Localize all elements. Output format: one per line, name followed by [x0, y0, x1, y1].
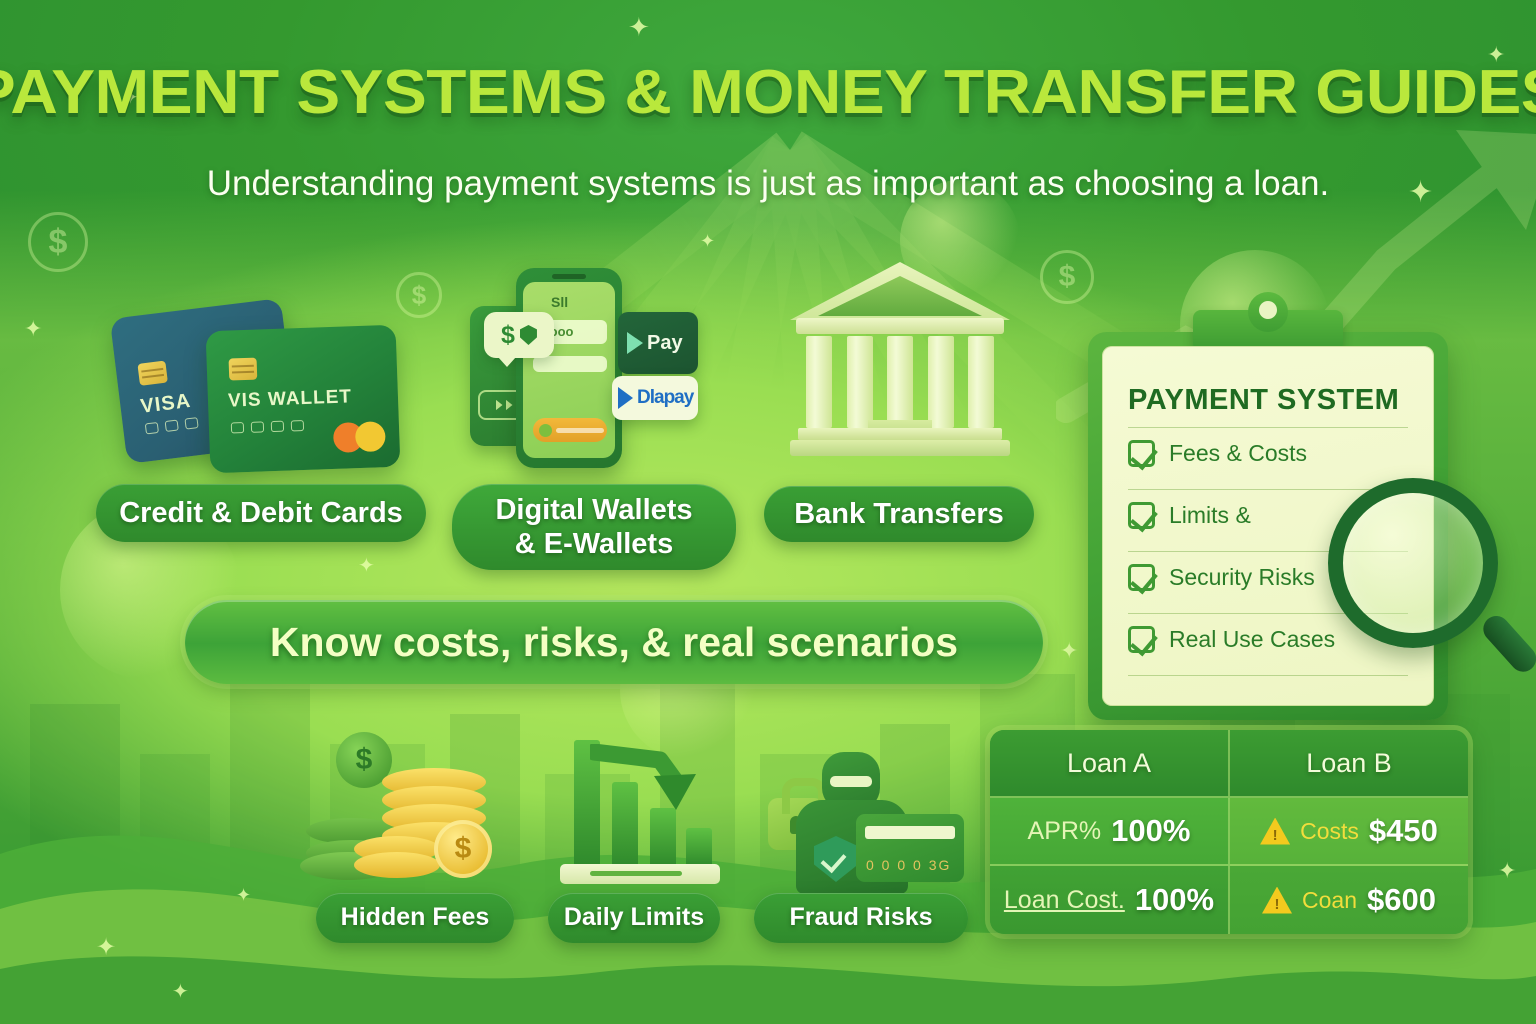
- checklist-item[interactable]: Real Use Cases: [1128, 614, 1408, 665]
- card-digits: 0 0 0 0 3G: [866, 857, 951, 873]
- gpay-badge: Pay: [618, 312, 698, 374]
- checklist-item-label: Fees & Costs: [1169, 440, 1307, 467]
- metric-value: 100%: [1135, 882, 1214, 918]
- dollar-watermark: $: [28, 212, 88, 272]
- phone-graphic: Sll Sooo: [516, 268, 622, 468]
- checklist-item[interactable]: Limits &: [1128, 490, 1408, 541]
- declining-bar-chart-icon: [556, 724, 724, 890]
- category-pill-wallets[interactable]: Digital Wallets & E-Wallets: [452, 484, 736, 570]
- chart-bar: [686, 828, 712, 866]
- metric-label: Coan: [1302, 887, 1357, 914]
- sparkle-icon: ✦: [628, 14, 650, 40]
- screen-title: Sll: [551, 294, 568, 310]
- bank-base-upper: [798, 428, 1002, 440]
- sparkle-icon: ✦: [1498, 860, 1516, 882]
- checklist-item[interactable]: Security Risks: [1128, 552, 1408, 603]
- paper-rule: [1128, 675, 1408, 676]
- card-brand-label: VISA: [139, 390, 192, 419]
- sparkle-icon: ✦: [358, 556, 375, 576]
- bank-columns: [806, 336, 994, 428]
- category-label: Bank Transfers: [794, 497, 1004, 531]
- sparkle-icon: ✦: [236, 886, 251, 904]
- checklist-item-label: Real Use Cases: [1169, 626, 1335, 653]
- page-title: PAYMENT SYSTEMS & MONEY TRANSFER GUIDES: [0, 57, 1536, 128]
- metric-value: 100%: [1111, 813, 1190, 849]
- clipboard-paper: PAYMENT SYSTEM Fees & Costs Limits & Sec…: [1102, 346, 1434, 706]
- checkbox-checked-icon[interactable]: [1128, 440, 1155, 467]
- category-label-line1: Digital Wallets: [495, 494, 692, 526]
- chart-bar: [650, 808, 676, 866]
- sparkle-icon: ✦: [24, 318, 42, 340]
- card-brand-label: VIS WALLET: [228, 386, 353, 412]
- dollar-watermark: $: [1040, 250, 1094, 304]
- clipboard-clip-ring: [1248, 292, 1288, 332]
- table-header-cell-loan-a: Loan A: [990, 730, 1230, 798]
- phone-screen: Sll Sooo: [523, 282, 615, 458]
- coin-disc: [354, 852, 440, 878]
- warning-icon: [1262, 887, 1292, 914]
- checklist-item-label: Limits &: [1169, 502, 1251, 529]
- risk-tag-hidden-fees[interactable]: Hidden Fees: [316, 893, 514, 943]
- card-magnetic-stripe: [865, 826, 955, 839]
- column-header: Loan B: [1306, 748, 1392, 779]
- column-header: Loan A: [1067, 748, 1151, 779]
- checklist-item[interactable]: Fees & Costs: [1128, 428, 1408, 479]
- category-label: Credit & Debit Cards: [119, 496, 403, 530]
- payment-system-checklist-card: PAYMENT SYSTEM Fees & Costs Limits & Sec…: [1088, 332, 1448, 720]
- bank-base-lower: [790, 440, 1010, 456]
- mastercard-logo-icon: [333, 421, 386, 453]
- screen-action-button: [533, 418, 607, 442]
- sparkle-icon: ✦: [96, 936, 116, 960]
- shield-icon: [520, 325, 537, 345]
- card-feature-dots: [145, 417, 199, 434]
- table-header-row: Loan A Loan B: [990, 730, 1468, 798]
- sparkle-icon: ✦: [700, 232, 715, 250]
- thief-mask: [830, 776, 872, 787]
- metric-label: APR%: [1028, 817, 1102, 846]
- screen-row: [533, 356, 607, 372]
- table-cell-loan-cost: Loan Cost. 100%: [990, 866, 1230, 934]
- table-cell-coan: Coan $600: [1230, 866, 1468, 934]
- risk-tag-label: Hidden Fees: [341, 903, 490, 933]
- checkbox-checked-icon[interactable]: [1128, 564, 1155, 591]
- table-row: APR% 100% Costs $450: [990, 798, 1468, 866]
- table-header-cell-loan-b: Loan B: [1230, 730, 1468, 798]
- card-feature-dots: [231, 420, 304, 434]
- metric-label: Costs: [1300, 818, 1359, 845]
- banner-text: Know costs, risks, & real scenarios: [270, 619, 958, 666]
- table-cell-costs: Costs $450: [1230, 798, 1468, 866]
- category-label-line2: & E-Wallets: [515, 528, 673, 560]
- card-chip-icon: [137, 361, 167, 386]
- checklist-item-label: Security Risks: [1169, 564, 1315, 591]
- category-pill-cards[interactable]: Credit & Debit Cards: [96, 484, 426, 542]
- risk-tag-daily-limits[interactable]: Daily Limits: [548, 893, 720, 943]
- phone-speaker: [552, 274, 586, 279]
- bank-building-icon: [790, 262, 1010, 462]
- wallet-card-graphic: VIS WALLET: [206, 325, 401, 474]
- risk-tag-label: Daily Limits: [564, 903, 704, 933]
- chart-base: [560, 864, 720, 884]
- play-triangle-icon: [627, 332, 643, 354]
- metric-value: $600: [1367, 882, 1436, 918]
- risk-tag-label: Fraud Risks: [789, 903, 932, 933]
- play-triangle-icon: [618, 387, 633, 409]
- category-pill-bank[interactable]: Bank Transfers: [764, 486, 1034, 542]
- coins-icon: $ $: [300, 732, 520, 890]
- key-message-banner[interactable]: Know costs, risks, & real scenarios: [185, 600, 1043, 684]
- page-subtitle: Understanding payment systems is just as…: [0, 164, 1536, 204]
- dollar-icon: $: [501, 321, 515, 350]
- credit-cards-icon: VISA ✦ VIS WALLET: [110, 298, 430, 478]
- smartphone-wallet-icon: Sll Sooo $ Pay Dlapay: [470, 268, 720, 478]
- metric-value: $450: [1369, 813, 1438, 849]
- bank-architrave: [796, 318, 1004, 334]
- money-chat-bubble-icon: $: [484, 312, 554, 358]
- checkbox-checked-icon[interactable]: [1128, 502, 1155, 529]
- dlapay-badge: Dlapay: [612, 376, 698, 420]
- downward-arrow-icon: [590, 744, 708, 816]
- sparkle-icon: ✦: [1060, 640, 1078, 662]
- infographic-canvas: $ $ $ $ ✦ ✦ ✦ ✦ ✦ ✦ ✦ ✦ ✦ ✦ ✦ ✦ PAYMENT …: [0, 0, 1536, 1024]
- metric-label: Loan Cost.: [1004, 886, 1125, 915]
- warning-icon: [1260, 818, 1290, 845]
- card-chip-icon: [229, 358, 258, 381]
- table-row: Loan Cost. 100% Coan $600: [990, 866, 1468, 934]
- dlapay-label: Dlapay: [637, 387, 693, 409]
- table-cell-apr: APR% 100%: [990, 798, 1230, 866]
- sparkle-icon: ✦: [172, 982, 189, 1002]
- gpay-label: Pay: [647, 332, 683, 355]
- stolen-card-graphic: 0 0 0 0 3G: [856, 814, 964, 882]
- checkbox-checked-icon[interactable]: [1128, 626, 1155, 653]
- risk-tag-fraud-risks[interactable]: Fraud Risks: [754, 893, 968, 943]
- gold-dollar-coin: $: [434, 820, 492, 878]
- checklist-title: PAYMENT SYSTEM: [1128, 384, 1408, 417]
- loan-comparison-table: Loan A Loan B APR% 100% Costs $450 Loan …: [990, 730, 1468, 934]
- thief-icon: 0 0 0 0 3G: [760, 752, 972, 894]
